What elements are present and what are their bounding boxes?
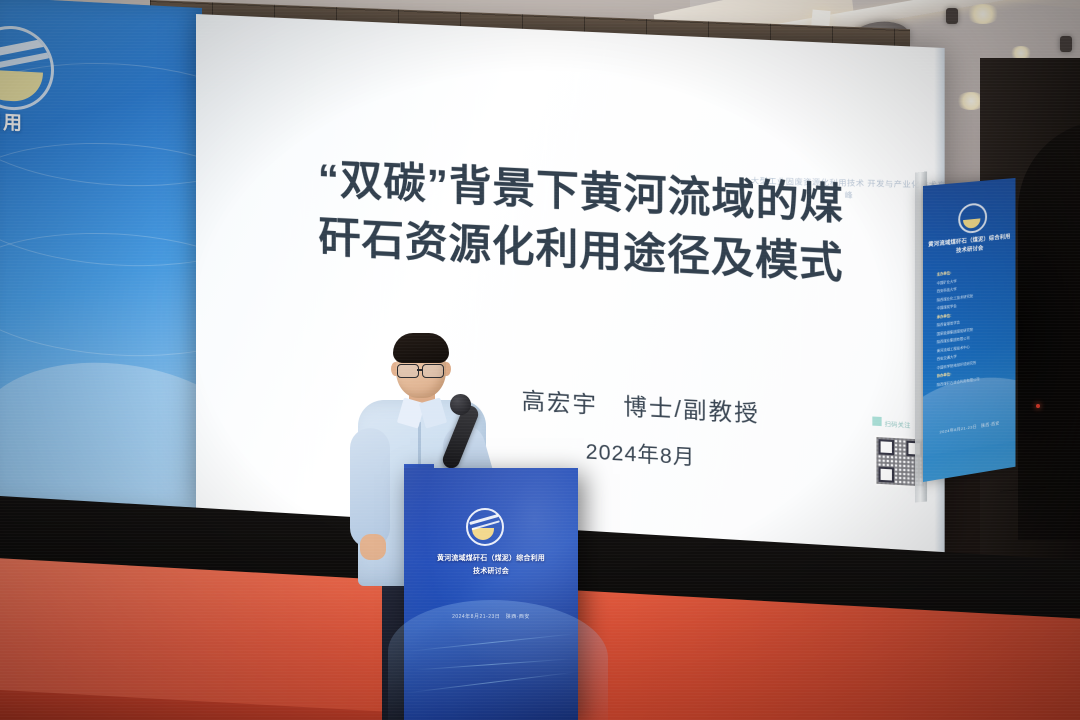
indicator-led: [1036, 404, 1040, 408]
eyeglasses-icon-left-lens: [397, 364, 419, 378]
right-rollup-banner: 黄河流域煤矸石（煤泥）综合利用 技术研讨会 主办单位： 中国矿业大学 西安科技大…: [923, 178, 1016, 482]
podium-title-line-2: 技术研讨会: [410, 565, 572, 578]
microphone-head-icon: [450, 394, 471, 415]
conference-emblem-icon: [466, 508, 504, 546]
section-heading: 协办单位：: [937, 372, 954, 378]
side-wall-curve-shadow: [1018, 120, 1080, 540]
right-banner-organizer-sections: 主办单位： 中国矿业大学 西安科技大学 陕西煤业化工技术研究院 中国煤炭学会 承…: [937, 262, 1012, 389]
qr-label: 扫码关注: [885, 419, 911, 430]
eyeglasses-icon-right-lens: [422, 364, 444, 378]
podium: 黄河流域煤矸石（煤泥）综合利用 技术研讨会 2024年8月21-23日 陕西·西…: [404, 468, 578, 720]
section-heading: 主办单位：: [937, 271, 954, 277]
podium-title: 黄河流域煤矸石（煤泥）综合利用 技术研讨会: [410, 552, 572, 579]
qr-eye-bl: [879, 467, 894, 483]
conference-photo-scene: （煤泥）综合利用 研讨会 物理研究所 公司 有限公司 限公司 备有限公司 化利用…: [0, 0, 1080, 720]
qr-eye-tl: [879, 439, 894, 455]
right-banner-title: 黄河流域煤矸石（煤泥）综合利用 技术研讨会: [927, 233, 1012, 260]
qr-accent-tile: [872, 416, 881, 426]
ceiling-spotlight-4: [1060, 36, 1072, 52]
left-rollup-banner: （煤泥）综合利用 研讨会 物理研究所 公司 有限公司 限公司 备有限公司 化利用…: [0, 0, 202, 508]
conference-emblem-icon: [958, 202, 987, 234]
left-banner-organizer-list: 物理研究所 公司 有限公司 限公司 备有限公司 化利用有限公司: [0, 238, 156, 419]
podium-title-line-1: 黄河流域煤矸石（煤泥）综合利用: [410, 552, 572, 565]
speaker-hand-left: [360, 534, 386, 560]
ceiling-spotlight-1: [946, 8, 958, 24]
section-heading: 承办单位：: [937, 313, 954, 319]
podium-date: 2024年8月21-23日 陕西·西安: [410, 613, 572, 620]
eyeglasses-bridge: [417, 369, 423, 371]
downlight-1: [966, 4, 1000, 24]
speaker-arm-left: [350, 428, 390, 548]
speaker-hair: [393, 333, 449, 363]
